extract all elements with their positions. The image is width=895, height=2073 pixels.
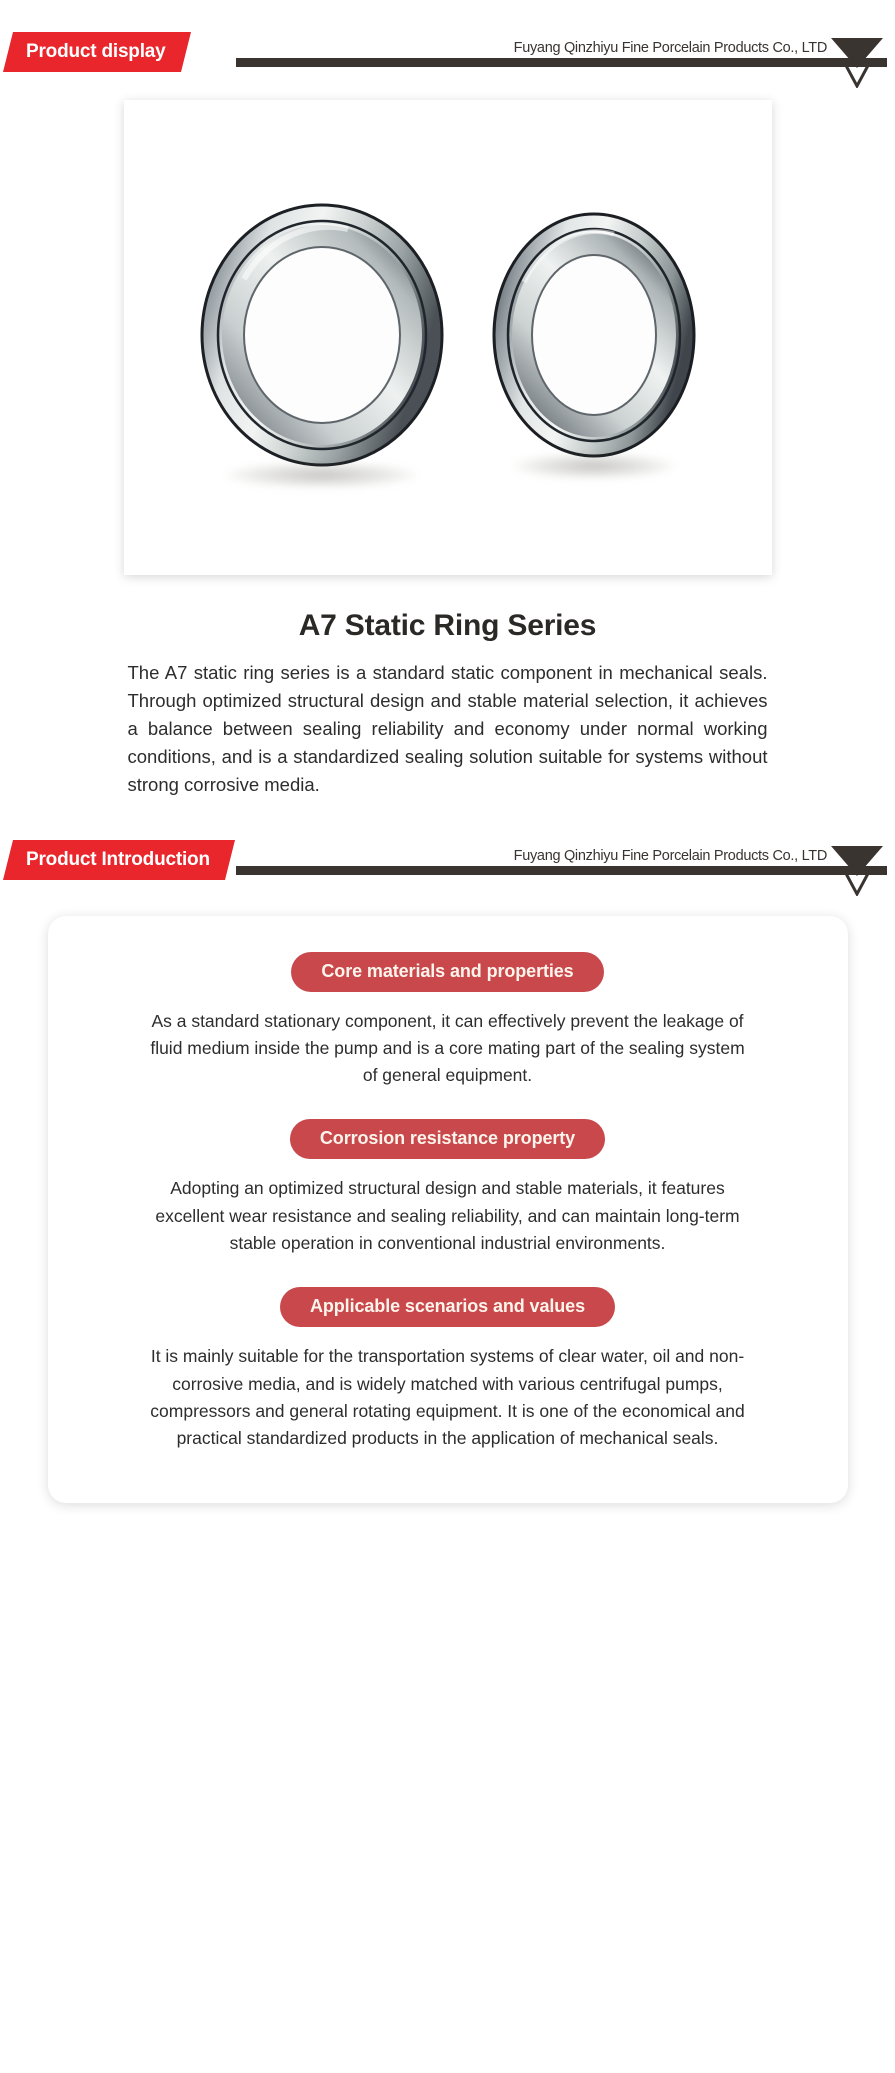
banner-rule: [236, 866, 887, 875]
product-page: Product display Fuyang Qinzhiyu Fine Por…: [0, 18, 895, 1503]
section-banner-display: Product display Fuyang Qinzhiyu Fine Por…: [0, 18, 895, 80]
feature-block: Core materials and properties As a stand…: [90, 952, 806, 1090]
section-tag-display: Product display: [3, 32, 191, 72]
pill-row: Applicable scenarios and values: [90, 1287, 806, 1327]
seal-ring-large: [198, 201, 446, 474]
chevron-down-icon: [829, 36, 885, 88]
banner-rule: [236, 58, 887, 67]
company-name-introduction: Fuyang Qinzhiyu Fine Porcelain Products …: [514, 848, 827, 864]
feature-pill-applicable-scenarios: Applicable scenarios and values: [280, 1287, 615, 1327]
product-description: The A7 static ring series is a standard …: [128, 659, 768, 800]
company-name-display: Fuyang Qinzhiyu Fine Porcelain Products …: [514, 40, 827, 56]
feature-text: It is mainly suitable for the transporta…: [143, 1343, 753, 1452]
seal-ring-small: [490, 210, 698, 465]
section-tag-introduction: Product Introduction: [3, 840, 235, 880]
section-tag-label: Product Introduction: [26, 849, 210, 871]
product-title: A7 Static Ring Series: [0, 609, 895, 643]
feature-pill-core-materials: Core materials and properties: [291, 952, 603, 992]
chevron-down-icon: [829, 844, 885, 896]
feature-block: Corrosion resistance property Adopting a…: [90, 1119, 806, 1257]
feature-block: Applicable scenarios and values It is ma…: [90, 1287, 806, 1452]
section-tag-label: Product display: [26, 41, 166, 63]
ring-shadow: [225, 462, 418, 488]
feature-text: As a standard stationary component, it c…: [143, 1008, 753, 1090]
ring-shadow: [512, 453, 674, 479]
section-banner-introduction: Product Introduction Fuyang Qinzhiyu Fin…: [0, 826, 895, 888]
product-introduction-card: Core materials and properties As a stand…: [48, 916, 848, 1503]
feature-text: Adopting an optimized structural design …: [143, 1175, 753, 1257]
pill-row: Corrosion resistance property: [90, 1119, 806, 1159]
product-photo-card: [124, 100, 772, 575]
pill-row: Core materials and properties: [90, 952, 806, 992]
feature-pill-corrosion-resistance: Corrosion resistance property: [290, 1119, 605, 1159]
